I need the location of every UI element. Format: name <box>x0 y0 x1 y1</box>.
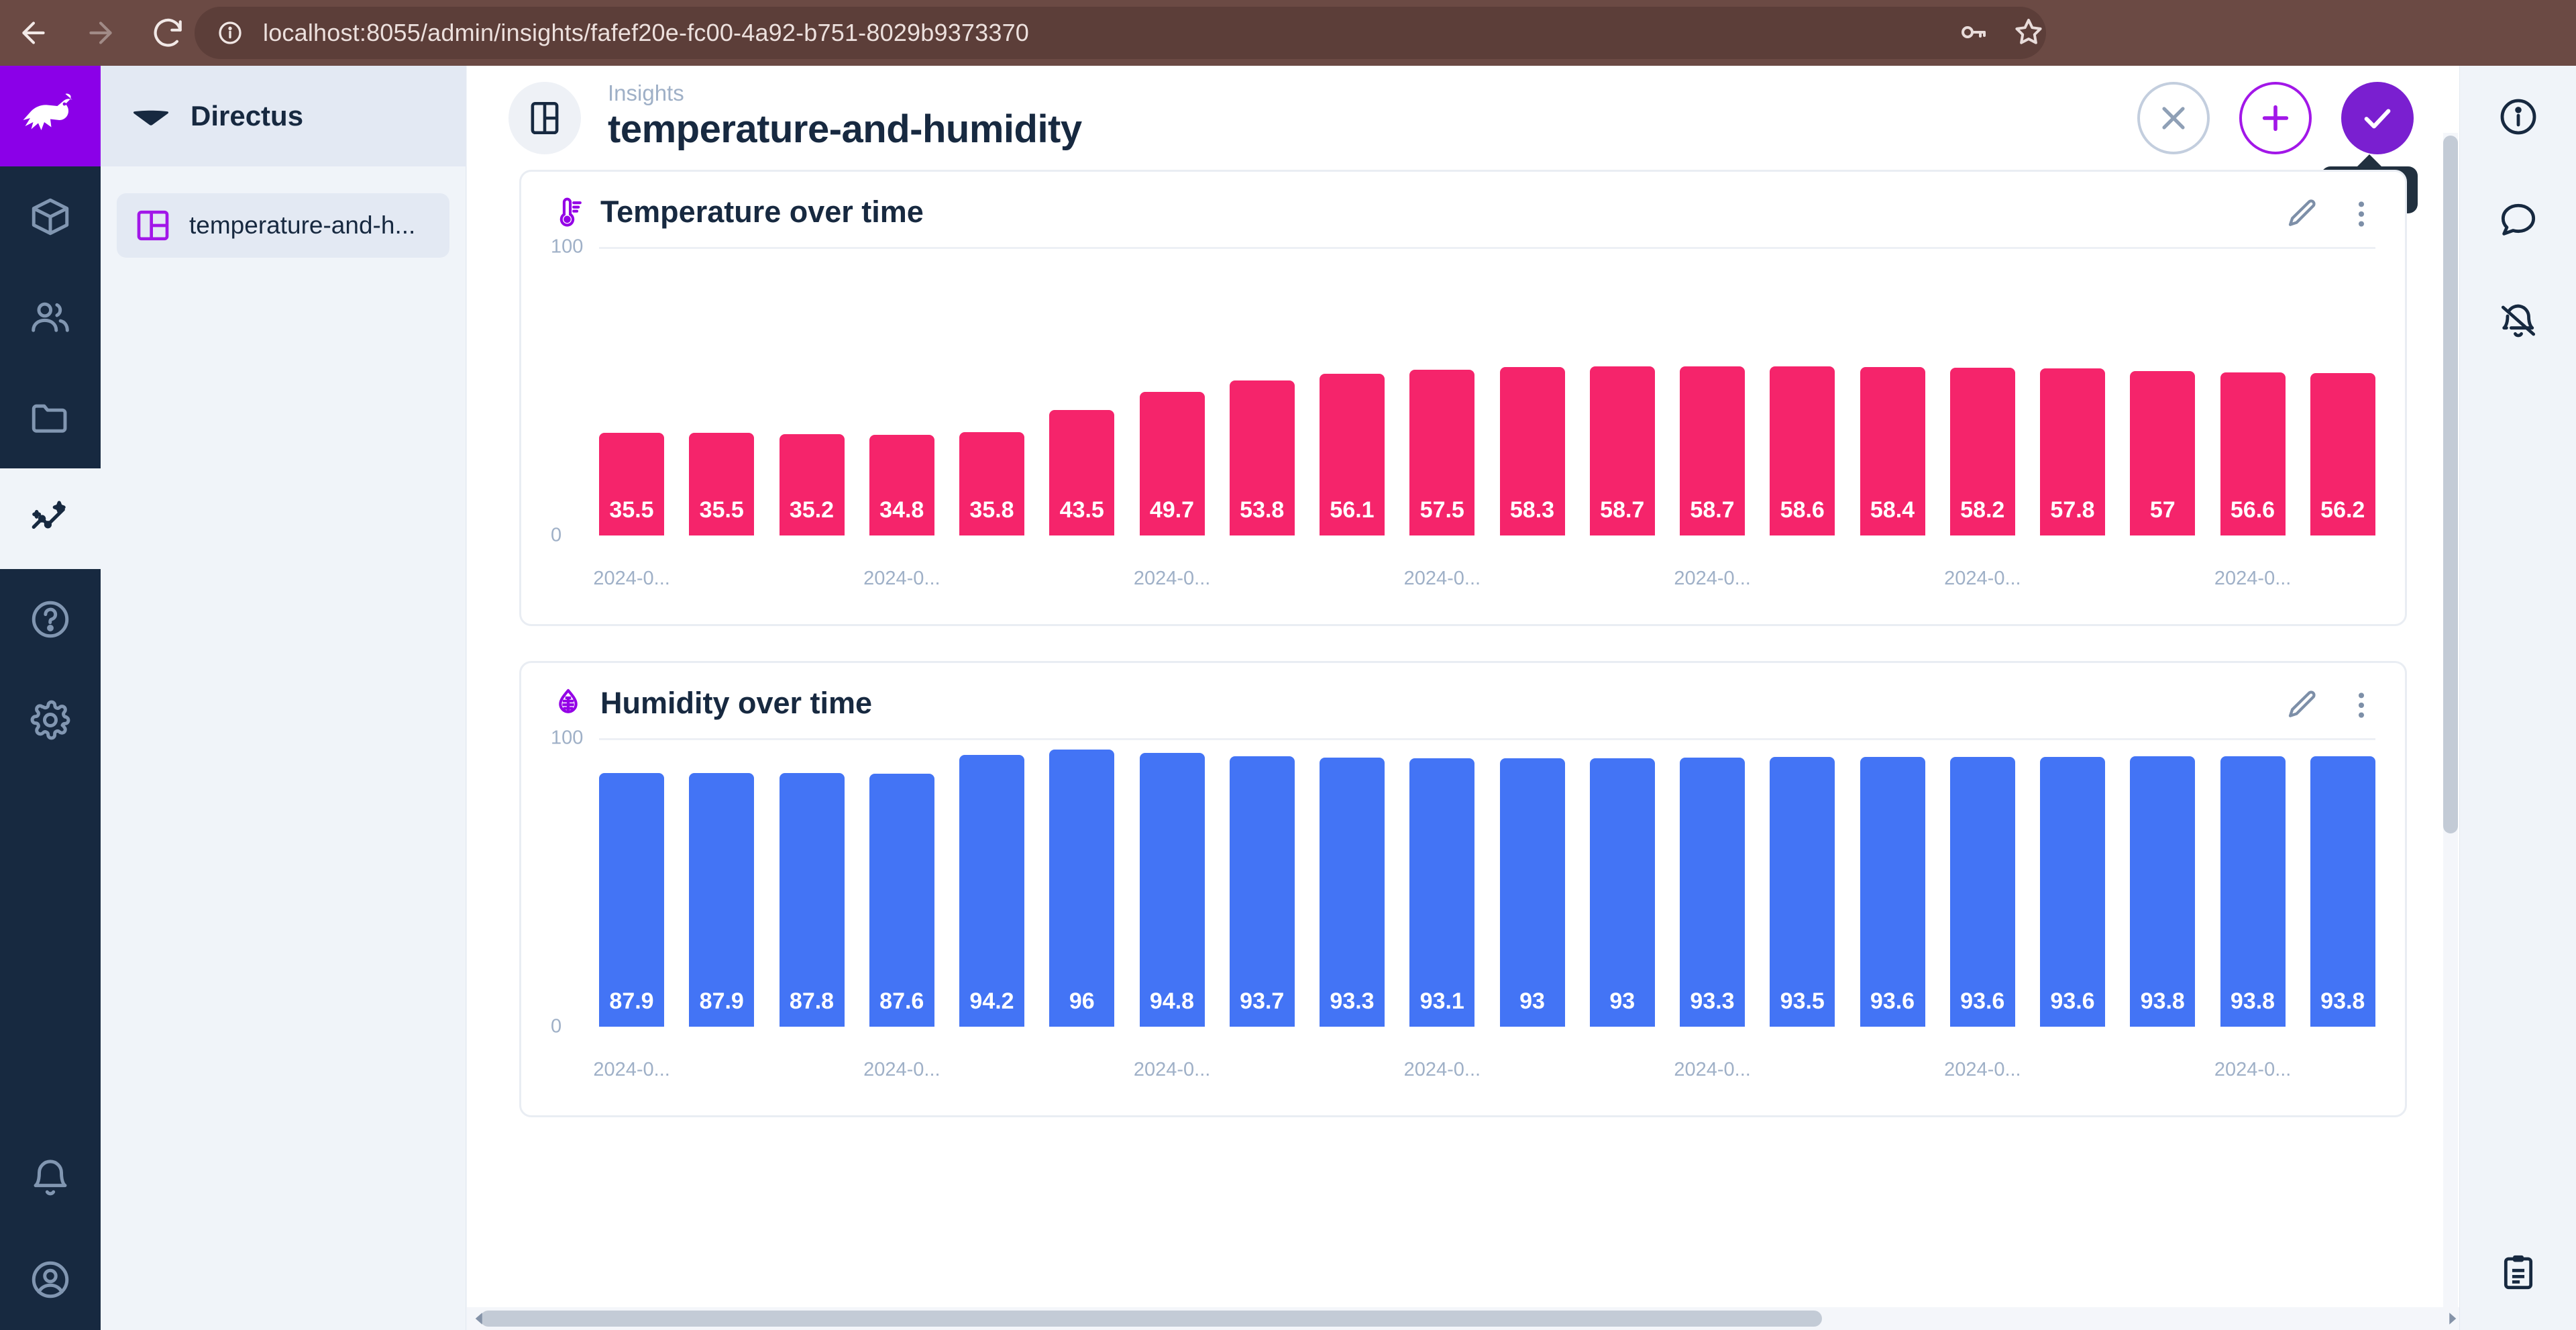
bar[interactable]: 35.5 <box>689 433 754 535</box>
bar[interactable]: 35.2 <box>780 434 845 535</box>
cancel-button[interactable] <box>2137 82 2210 154</box>
close-x-icon <box>2155 99 2192 137</box>
x-axis-tick: 2024-0... <box>1944 1059 2021 1081</box>
module-bar <box>0 66 101 1330</box>
bar-value-label: 34.8 <box>879 497 924 523</box>
scroll-right-arrow-icon[interactable] <box>2442 1309 2462 1329</box>
thermometer-icon <box>551 195 586 229</box>
panel-tools <box>2284 687 2379 723</box>
bar[interactable]: 93.3 <box>1680 758 1745 1027</box>
bar[interactable]: 49.7 <box>1140 392 1205 535</box>
bar-value-label: 93.1 <box>1420 988 1464 1015</box>
bar[interactable]: 58.6 <box>1770 366 1835 535</box>
directus-app: Directus temperature-and-h... Insights t… <box>0 66 2576 1330</box>
bar-value-label: 96 <box>1069 988 1095 1015</box>
x-axis-tick: 2024-0... <box>1674 568 1750 590</box>
x-axis: 2024-0...2024-0...2024-0...2024-0...2024… <box>599 1059 2375 1098</box>
x-axis-tick: 2024-0... <box>2214 1059 2291 1081</box>
bar-value-label: 35.5 <box>609 497 653 523</box>
bell-icon <box>28 1157 72 1201</box>
folder-icon <box>28 396 72 440</box>
bar[interactable]: 56.1 <box>1320 374 1385 535</box>
bar-value-label: 58.2 <box>1960 497 2004 523</box>
bar-value-label: 93.6 <box>2050 988 2094 1015</box>
back-arrow-icon[interactable] <box>0 0 67 66</box>
bar-value-label: 93.5 <box>1780 988 1825 1015</box>
bar-value-label: 93.3 <box>1330 988 1374 1015</box>
url-text: localhost:8055/admin/insights/fafef20e-f… <box>263 19 1029 47</box>
bar-value-label: 94.2 <box>969 988 1014 1015</box>
chart-humidity: 100087.987.987.887.694.29694.893.793.393… <box>521 727 2405 1115</box>
info-circle-icon[interactable] <box>2460 66 2576 168</box>
bar-value-label: 57.8 <box>2050 497 2094 523</box>
x-axis-tick: 2024-0... <box>1674 1059 1750 1081</box>
module-settings[interactable] <box>0 670 101 770</box>
module-notifications[interactable] <box>0 1129 101 1229</box>
bar-value-label: 57.5 <box>1420 497 1464 523</box>
panel-title: Temperature over time <box>600 195 924 229</box>
bar-value-label: 58.3 <box>1510 497 1554 523</box>
horizontal-scrollbar-thumb[interactable] <box>480 1311 1822 1327</box>
module-content[interactable] <box>0 166 101 267</box>
directus-mark-icon <box>130 95 172 137</box>
sidebar-brand: Directus <box>101 66 466 166</box>
main-content: Insights temperature-and-humidity Save <box>467 66 2459 1330</box>
bar[interactable]: 93 <box>1500 758 1565 1027</box>
bar-value-label: 56.2 <box>2320 497 2365 523</box>
bar[interactable]: 93.6 <box>1950 757 2015 1027</box>
bar[interactable]: 93.3 <box>1320 758 1385 1027</box>
bar[interactable]: 96 <box>1049 750 1114 1027</box>
gear-icon <box>28 698 72 742</box>
bar[interactable]: 35.8 <box>959 432 1024 535</box>
bar-series: 35.535.535.234.835.843.549.753.856.157.5… <box>599 247 2375 535</box>
x-axis-tick: 2024-0... <box>1944 568 2021 590</box>
chart-grid: 100087.987.987.887.694.29694.893.793.393… <box>551 738 2375 1051</box>
bar[interactable]: 94.8 <box>1140 753 1205 1027</box>
bar-value-label: 35.5 <box>700 497 744 523</box>
x-axis-tick: 2024-0... <box>1134 1059 1210 1081</box>
y-axis-tick-min: 0 <box>551 1016 561 1038</box>
bell-slash-icon[interactable] <box>2460 270 2576 372</box>
pencil-icon[interactable] <box>2284 196 2320 232</box>
module-insights[interactable] <box>0 468 101 569</box>
add-panel-button[interactable] <box>2239 82 2312 154</box>
module-users[interactable] <box>0 267 101 368</box>
bar-value-label: 93.7 <box>1240 988 1284 1015</box>
module-files[interactable] <box>0 368 101 468</box>
bar-value-label: 93 <box>1609 988 1635 1015</box>
x-axis-tick: 2024-0... <box>1404 1059 1481 1081</box>
bookmark-star-icon[interactable] <box>2012 16 2045 48</box>
bar-value-label: 58.6 <box>1780 497 1825 523</box>
bar[interactable]: 58.7 <box>1590 366 1655 535</box>
pencil-icon[interactable] <box>2284 687 2320 723</box>
help-circle-icon <box>28 597 72 642</box>
panel-header: Temperature over time <box>521 172 2405 236</box>
humidity-drop-icon <box>551 686 586 721</box>
bar-value-label: 93.6 <box>1960 988 2004 1015</box>
bar-value-label: 58.7 <box>1600 497 1644 523</box>
forward-arrow-icon[interactable] <box>67 0 134 66</box>
bar[interactable]: 57.8 <box>2040 368 2105 535</box>
bar-value-label: 43.5 <box>1060 497 1104 523</box>
bar[interactable]: 93.6 <box>1860 757 1925 1027</box>
address-bar[interactable]: localhost:8055/admin/insights/fafef20e-f… <box>195 7 2046 59</box>
bar[interactable]: 87.8 <box>780 773 845 1027</box>
bar[interactable]: 53.8 <box>1230 380 1295 535</box>
bar[interactable]: 94.2 <box>959 755 1024 1027</box>
scroll-left-arrow-icon[interactable] <box>470 1309 490 1329</box>
panel-title: Humidity over time <box>600 686 872 721</box>
bar-value-label: 58.7 <box>1690 497 1734 523</box>
page-title: temperature-and-humidity <box>608 105 1082 154</box>
bar-value-label: 93.8 <box>2141 988 2185 1015</box>
bar[interactable]: 43.5 <box>1049 410 1114 535</box>
bar-value-label: 56.6 <box>2231 497 2275 523</box>
site-info-icon[interactable] <box>212 15 248 51</box>
bar-value-label: 56.1 <box>1330 497 1374 523</box>
x-axis-tick: 2024-0... <box>1404 568 1481 590</box>
bar-value-label: 53.8 <box>1240 497 1284 523</box>
x-axis: 2024-0...2024-0...2024-0...2024-0...2024… <box>599 568 2375 607</box>
bar-value-label: 93.8 <box>2320 988 2365 1015</box>
bar[interactable]: 93.5 <box>1770 757 1835 1027</box>
bar-value-label: 93.8 <box>2231 988 2275 1015</box>
directus-rabbit-logo[interactable] <box>0 66 101 166</box>
panel-tools <box>2284 196 2379 232</box>
panel-humidity: Humidity over time 100087.987.987.887.69… <box>519 661 2407 1117</box>
insights-chart-icon <box>28 497 72 541</box>
dashboard-panel-icon <box>508 82 581 154</box>
saved-password-icon[interactable] <box>1957 16 1990 48</box>
bar[interactable]: 93.8 <box>2220 756 2286 1027</box>
sidebar-item-temperature-and-humidity[interactable]: temperature-and-h... <box>117 193 449 258</box>
vertical-scrollbar-thumb[interactable] <box>2443 136 2458 833</box>
bar-value-label: 87.6 <box>879 988 924 1015</box>
chart-temperature: 100035.535.535.234.835.843.549.753.856.1… <box>521 236 2405 624</box>
dashboard-panel-icon <box>134 207 172 244</box>
page-header: Insights temperature-and-humidity Save <box>467 66 2459 170</box>
bar[interactable]: 57 <box>2130 371 2195 535</box>
bar[interactable]: 93.6 <box>2040 757 2105 1027</box>
bar[interactable]: 93 <box>1590 758 1655 1027</box>
right-sidebar <box>2459 66 2576 1330</box>
bar-value-label: 94.8 <box>1150 988 1194 1015</box>
comment-icon[interactable] <box>2460 168 2576 270</box>
bar[interactable]: 35.5 <box>599 433 664 535</box>
header-actions <box>2137 82 2414 154</box>
bar[interactable]: 34.8 <box>869 435 934 535</box>
chart-plot-area: 100035.535.535.234.835.843.549.753.856.1… <box>551 247 2375 607</box>
box-icon <box>28 195 72 239</box>
bar[interactable]: 58.7 <box>1680 366 1745 535</box>
x-axis-tick: 2024-0... <box>1134 568 1210 590</box>
bar[interactable]: 56.2 <box>2310 373 2375 535</box>
bar-value-label: 58.4 <box>1870 497 1915 523</box>
reload-icon[interactable] <box>134 0 201 66</box>
y-axis-tick-max: 100 <box>551 727 583 750</box>
chart-plot-area: 100087.987.987.887.694.29694.893.793.393… <box>551 738 2375 1098</box>
bar[interactable]: 56.6 <box>2220 372 2286 535</box>
bar[interactable]: 58.3 <box>1500 367 1565 535</box>
x-axis-tick: 2024-0... <box>593 568 669 590</box>
brand-title: Directus <box>191 100 303 132</box>
bar-value-label: 87.8 <box>790 988 834 1015</box>
bar-value-label: 35.8 <box>969 497 1014 523</box>
more-vertical-icon[interactable] <box>2343 687 2379 723</box>
bar-series: 87.987.987.887.694.29694.893.793.393.193… <box>599 738 2375 1027</box>
bar[interactable]: 58.4 <box>1860 367 1925 535</box>
y-axis-tick-max: 100 <box>551 236 583 258</box>
bar-value-label: 87.9 <box>700 988 744 1015</box>
bar[interactable]: 93.8 <box>2310 756 2375 1027</box>
bar-value-label: 93.6 <box>1870 988 1915 1015</box>
sidebar-item-label: temperature-and-h... <box>189 211 415 240</box>
bar-value-label: 35.2 <box>790 497 834 523</box>
panel-temperature: Temperature over time 100035.535.535.234… <box>519 170 2407 626</box>
bar[interactable]: 87.6 <box>869 774 934 1027</box>
bar-value-label: 93.3 <box>1690 988 1734 1015</box>
x-axis-tick: 2024-0... <box>863 1059 940 1081</box>
module-account[interactable] <box>0 1229 101 1330</box>
plus-icon <box>2257 99 2294 137</box>
bar-value-label: 57 <box>2150 497 2176 523</box>
x-axis-tick: 2024-0... <box>2214 568 2291 590</box>
x-axis-tick: 2024-0... <box>593 1059 669 1081</box>
x-axis-tick: 2024-0... <box>863 568 940 590</box>
save-button[interactable] <box>2341 82 2414 154</box>
bar[interactable]: 57.5 <box>1409 370 1474 535</box>
y-axis-tick-min: 0 <box>551 525 561 547</box>
people-icon <box>28 295 72 340</box>
module-help[interactable] <box>0 569 101 670</box>
bar-value-label: 49.7 <box>1150 497 1194 523</box>
bar[interactable]: 58.2 <box>1950 368 2015 535</box>
more-vertical-icon[interactable] <box>2343 196 2379 232</box>
chart-grid: 100035.535.535.234.835.843.549.753.856.1… <box>551 247 2375 560</box>
bar[interactable]: 87.9 <box>599 773 664 1027</box>
bar[interactable]: 93.7 <box>1230 756 1295 1027</box>
bar[interactable]: 93.8 <box>2130 756 2195 1027</box>
browser-chrome: localhost:8055/admin/insights/fafef20e-f… <box>0 0 2576 66</box>
checkmark-icon <box>2359 99 2396 137</box>
bar-value-label: 93 <box>1519 988 1545 1015</box>
panel-header: Humidity over time <box>521 663 2405 727</box>
bar[interactable]: 93.1 <box>1409 758 1474 1027</box>
clipboard-icon[interactable] <box>2460 1221 2576 1323</box>
nav-sidebar: Directus temperature-and-h... <box>101 66 466 1330</box>
bar-value-label: 87.9 <box>609 988 653 1015</box>
bar[interactable]: 87.9 <box>689 773 754 1027</box>
breadcrumb[interactable]: Insights <box>608 82 1082 105</box>
user-circle-icon <box>28 1258 72 1302</box>
